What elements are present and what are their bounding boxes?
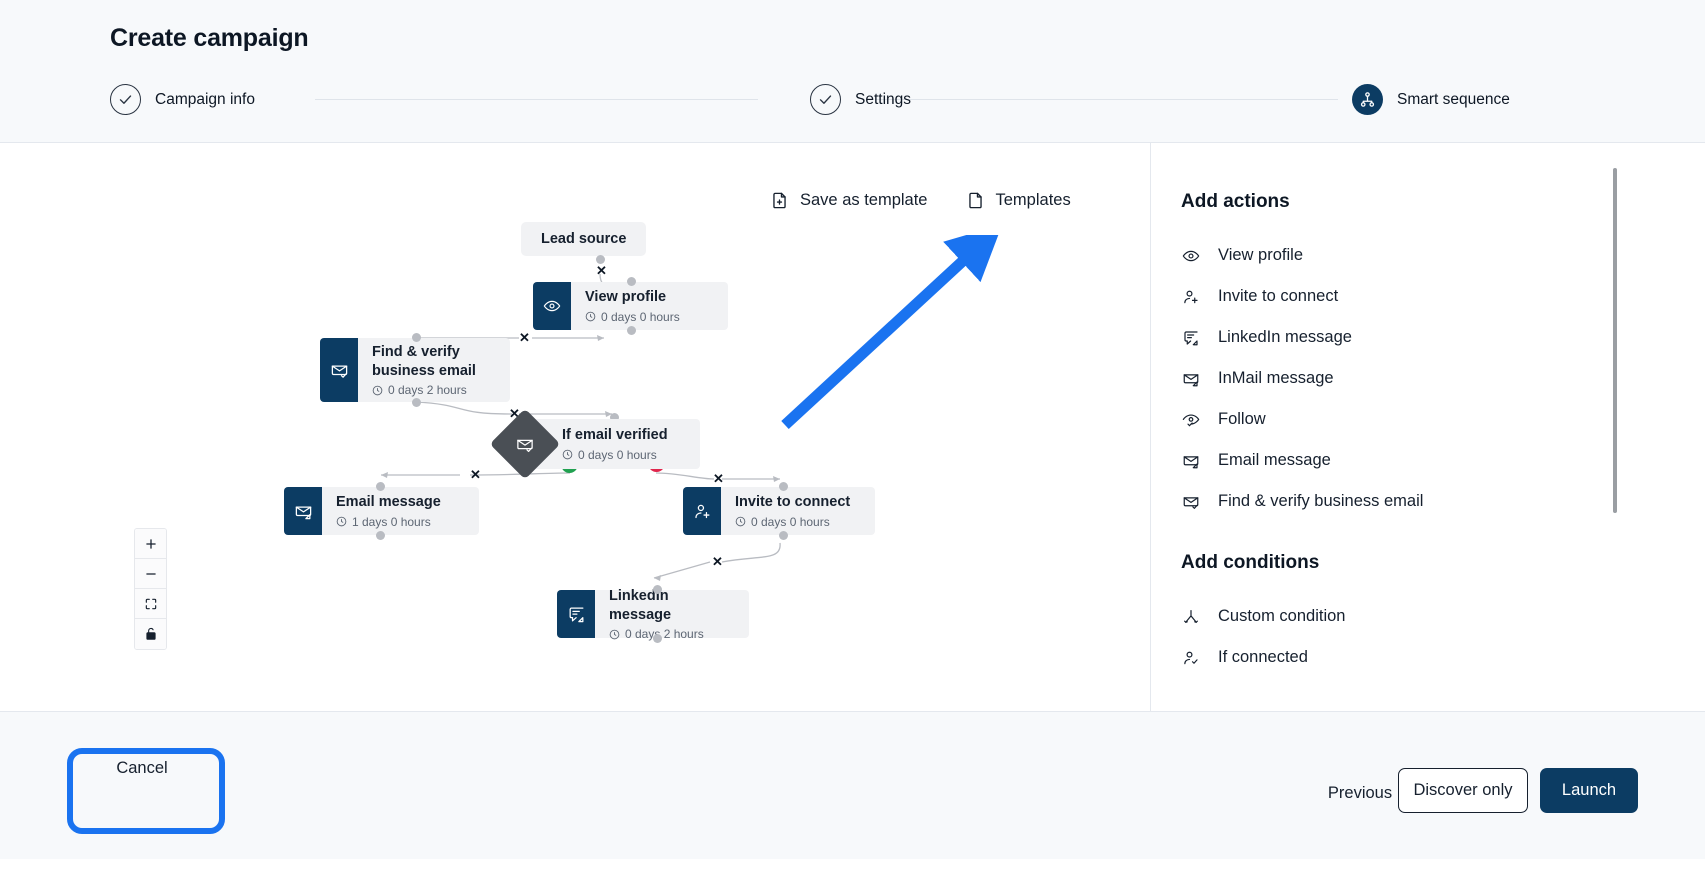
edge-delete-button[interactable]: ✕ [712, 555, 723, 568]
node-handle-in[interactable] [779, 482, 788, 491]
node-email-message-time: 1 days 0 hours [336, 515, 463, 529]
create-campaign-page: Create campaign Campaign info Settings [0, 0, 1705, 873]
action-item-linkedin-message[interactable]: LinkedIn message [1181, 317, 1601, 358]
node-view-profile-title: View profile [585, 288, 712, 307]
node-linkedin-message-title: LinkedIn message [609, 587, 733, 624]
eye-icon [1181, 247, 1200, 265]
mail-send-icon [1181, 452, 1200, 470]
user-check-icon [1181, 649, 1200, 667]
cancel-button[interactable]: Cancel [80, 745, 204, 791]
node-lead-source-label: Lead source [541, 231, 626, 247]
node-handle-in[interactable] [653, 585, 662, 594]
launch-button[interactable]: Launch [1540, 768, 1638, 813]
node-linkedin-message[interactable]: LinkedIn message 0 days 2 hours [557, 590, 749, 638]
stepper-line-1 [315, 99, 758, 100]
action-label: Email message [1218, 451, 1331, 470]
chat-send-icon [1181, 329, 1200, 347]
action-item-inmail-message[interactable]: InMail message [1181, 358, 1601, 399]
page-header: Create campaign Campaign info Settings [0, 0, 1705, 143]
action-item-view-profile[interactable]: View profile [1181, 235, 1601, 276]
node-find-verify-email-time: 0 days 2 hours [372, 383, 494, 397]
stepper: Campaign info Settings Smart sequence [110, 84, 1600, 124]
user-plus-icon [1181, 288, 1200, 306]
node-linkedin-message-time: 0 days 2 hours [609, 627, 733, 641]
node-email-message[interactable]: Email message 1 days 0 hours [284, 487, 479, 535]
node-if-email-verified[interactable]: If email verified 0 days 0 hours [500, 419, 700, 469]
mail-check-icon [516, 435, 535, 454]
node-invite-to-connect[interactable]: Invite to connect 0 days 0 hours [683, 487, 875, 535]
mail-check-icon [320, 338, 358, 402]
node-handle-out[interactable] [627, 326, 636, 335]
add-actions-heading: Add actions [1181, 191, 1601, 213]
mail-send-icon [1181, 370, 1200, 388]
edge-delete-button[interactable]: ✕ [713, 472, 724, 485]
node-invite-to-connect-time: 0 days 0 hours [735, 515, 859, 529]
edge-delete-button[interactable]: ✕ [470, 468, 481, 481]
action-label: LinkedIn message [1218, 328, 1352, 347]
node-view-profile[interactable]: View profile 0 days 0 hours [533, 282, 728, 330]
action-item-find-verify-business-email[interactable]: Find & verify business email [1181, 481, 1601, 522]
branch-icon [1181, 608, 1200, 626]
sitemap-icon [1352, 84, 1383, 115]
chat-send-icon [557, 590, 595, 638]
node-email-message-title: Email message [336, 493, 463, 512]
node-if-email-verified-title: If email verified [562, 426, 684, 445]
check-icon [110, 84, 141, 115]
step-campaign-info[interactable]: Campaign info [110, 84, 255, 115]
condition-item-custom-condition[interactable]: Custom condition [1181, 596, 1601, 637]
node-view-profile-time: 0 days 0 hours [585, 310, 712, 324]
add-conditions-heading: Add conditions [1181, 552, 1601, 574]
action-label: Find & verify business email [1218, 492, 1423, 511]
sequence-canvas[interactable]: Save as template Templates [0, 143, 1150, 711]
eye-check-icon [1181, 411, 1200, 429]
add-actions-panel: Add actions View profile Invite to conne… [1150, 143, 1705, 711]
node-handle-out[interactable] [779, 531, 788, 540]
actions-list: View profile Invite to connect LinkedIn … [1181, 235, 1601, 522]
step-label-smart-sequence: Smart sequence [1397, 91, 1510, 109]
stepper-line-2 [875, 99, 1338, 100]
action-label: Invite to connect [1218, 287, 1338, 306]
mail-send-icon [284, 487, 322, 535]
node-invite-to-connect-title: Invite to connect [735, 493, 859, 512]
panel-scrollbar[interactable] [1613, 168, 1617, 513]
node-find-verify-email-title: Find & verify business email [372, 343, 494, 380]
condition-item-if-connected[interactable]: If connected [1181, 637, 1601, 678]
node-handle-out[interactable] [653, 634, 662, 643]
action-label: InMail message [1218, 369, 1334, 388]
eye-icon [533, 282, 571, 330]
step-settings[interactable]: Settings [810, 84, 911, 115]
node-handle-in[interactable] [376, 482, 385, 491]
page-title: Create campaign [110, 24, 308, 53]
node-handle-out[interactable] [412, 398, 421, 407]
discover-only-button[interactable]: Discover only [1398, 768, 1528, 813]
conditions-list: Custom condition If connected [1181, 596, 1601, 678]
condition-label: If connected [1218, 648, 1308, 667]
step-smart-sequence[interactable]: Smart sequence [1352, 84, 1510, 115]
edge-delete-button[interactable]: ✕ [596, 264, 607, 277]
action-item-email-message[interactable]: Email message [1181, 440, 1601, 481]
mail-check-icon [1181, 493, 1200, 511]
node-handle-in[interactable] [412, 333, 421, 342]
node-lead-source[interactable]: Lead source [521, 222, 646, 256]
condition-label: Custom condition [1218, 607, 1345, 626]
node-handle-out[interactable] [376, 531, 385, 540]
action-label: View profile [1218, 246, 1303, 265]
node-find-verify-email[interactable]: Find & verify business email 0 days 2 ho… [320, 338, 510, 402]
step-label-settings: Settings [855, 91, 911, 109]
action-item-follow[interactable]: Follow [1181, 399, 1601, 440]
edge-delete-button[interactable]: ✕ [519, 331, 530, 344]
action-item-invite-to-connect[interactable]: Invite to connect [1181, 276, 1601, 317]
user-plus-icon [683, 487, 721, 535]
step-label-campaign-info: Campaign info [155, 91, 255, 109]
check-icon [810, 84, 841, 115]
node-if-email-verified-time: 0 days 0 hours [562, 448, 684, 462]
node-handle-in[interactable] [627, 277, 636, 286]
action-label: Follow [1218, 410, 1266, 429]
